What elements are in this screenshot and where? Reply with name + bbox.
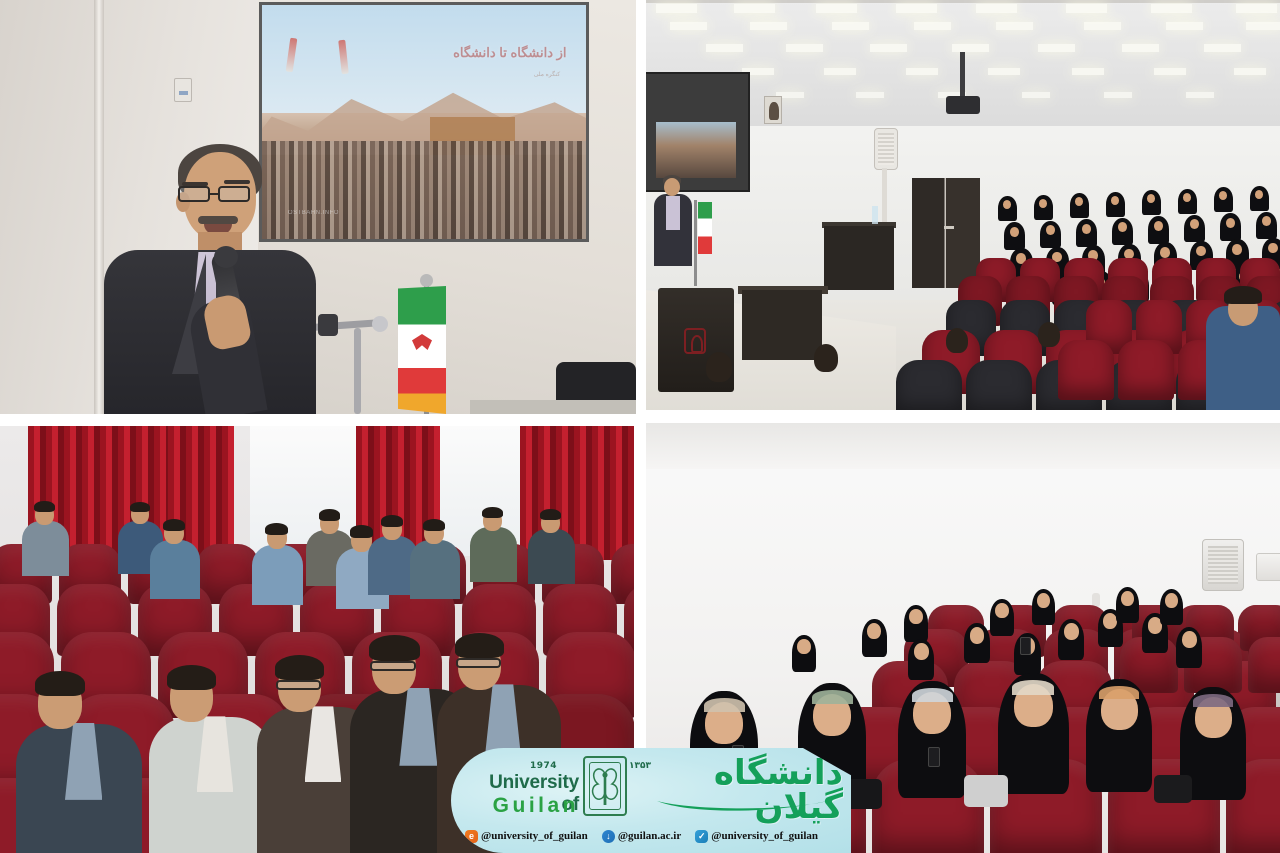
speaker-brow-right (224, 180, 250, 184)
ceiling-edge (646, 0, 1280, 3)
audience-body (150, 540, 200, 598)
iranian-flag (698, 202, 712, 254)
audience-face (1064, 623, 1079, 640)
hall-ceiling (646, 423, 1280, 469)
handbag-icon (1154, 775, 1192, 803)
audience-hair (130, 502, 150, 513)
audience-face (1262, 216, 1271, 226)
speaker-moustache (198, 216, 238, 224)
ceiling-light (786, 44, 823, 52)
wall-speaker-icon (874, 128, 898, 170)
ceiling-light (734, 4, 775, 13)
slide-subtitle: کنگره ملی (534, 71, 560, 78)
wall-portrait (764, 96, 782, 124)
audience-hair (1224, 286, 1262, 304)
headscarf (1099, 686, 1139, 700)
audience-body (22, 521, 69, 576)
audience-face (1268, 243, 1278, 254)
ceiling-light (670, 22, 707, 30)
audience-face (914, 643, 929, 660)
audience-face (867, 623, 881, 639)
eitaa-icon: e (465, 830, 478, 843)
ceiling-light (816, 4, 857, 13)
headscarf (912, 688, 953, 702)
ceiling-light (1072, 68, 1104, 75)
flag-pole-finial (420, 274, 433, 287)
iranian-flag (398, 286, 446, 414)
university-name-line2: Guilan (467, 794, 579, 818)
wall-conduit (882, 168, 887, 224)
audience-face (970, 627, 984, 644)
table-edge (470, 400, 636, 414)
audience-hair (455, 633, 504, 658)
audience-face (1121, 591, 1134, 606)
guilan-tea-leaf-emblem-icon (583, 756, 627, 816)
smartphone-icon (928, 747, 940, 767)
ceiling-light (824, 68, 856, 75)
ceiling-light (656, 4, 697, 13)
audience-hair (167, 665, 216, 690)
ceiling-light (952, 44, 989, 52)
ceiling-light (976, 4, 1017, 13)
audience-hair (163, 519, 185, 531)
ceiling-light (1038, 44, 1075, 52)
audience-face (1226, 218, 1235, 228)
audience-face (1082, 224, 1091, 234)
ceiling-light (906, 68, 938, 75)
social-handle-eitaa: @university_of_guilan (481, 830, 588, 842)
social-handles-row: e @university_of_guilan ↓ @guilan.ac.ir … (465, 826, 837, 846)
ceiling-light (856, 92, 884, 98)
ceiling-light (750, 22, 787, 30)
auditorium-wide-photo (646, 0, 1280, 410)
equipment-cabinet (824, 226, 894, 290)
audience-head (814, 344, 838, 372)
microphone-head (214, 246, 238, 268)
headscarf (1193, 694, 1233, 708)
audience-hair (34, 501, 55, 512)
projector-icon (946, 96, 980, 114)
ceiling-light (1204, 44, 1241, 52)
auditorium-seat (1058, 340, 1114, 400)
audience-face (909, 609, 922, 625)
bale-icon: ↓ (602, 830, 615, 843)
auditorium-seat (966, 360, 1032, 410)
ceiling-light (1236, 4, 1277, 13)
headscarf (704, 698, 745, 712)
university-name-persian-block: دانشگاه گیلان (649, 754, 845, 822)
audience-hair (350, 525, 374, 537)
ceiling-light (832, 22, 869, 30)
audience-face (1118, 222, 1127, 232)
ceiling-light (1154, 68, 1186, 75)
audience-hair (381, 515, 403, 527)
audience-body (252, 545, 303, 605)
social-link-eitaa[interactable]: e @university_of_guilan (465, 830, 588, 843)
ceiling-light (996, 22, 1033, 30)
social-handle-twitter: @university_of_guilan (711, 830, 818, 842)
auditorium-seat (896, 360, 962, 410)
audience-face (1182, 631, 1197, 648)
social-link-twitter[interactable]: ✓ @university_of_guilan (695, 830, 818, 843)
social-link-bale[interactable]: ↓ @guilan.ac.ir (602, 830, 681, 843)
audience-body (528, 529, 575, 584)
water-bottle (872, 206, 878, 224)
light-switch-icon (174, 78, 192, 102)
auditorium-seat (1248, 637, 1280, 693)
social-handle-bale: @guilan.ac.ir (618, 830, 681, 842)
audience-face (995, 603, 1008, 619)
ceiling-light (914, 22, 951, 30)
audience-head (706, 352, 732, 382)
handbag-icon (964, 775, 1008, 807)
emblem-glyph (589, 764, 621, 808)
speaker-shirt (666, 196, 680, 230)
projection-screen: از دانشگاه تا دانشگاه کنگره ملی OSTBAHN.… (262, 5, 586, 239)
collage-page: از دانشگاه تا دانشگاه کنگره ملی OSTBAHN.… (0, 0, 1280, 853)
audience-face (1154, 221, 1163, 231)
ceiling-light (1122, 44, 1159, 52)
founding-year-gregorian: 1974 (530, 761, 557, 771)
smartphone-icon (1020, 637, 1031, 655)
audience-face (1010, 227, 1019, 237)
auditorium-seat (1118, 340, 1174, 400)
ceiling-light (1084, 22, 1121, 30)
audience-hair (482, 507, 503, 518)
audience-face (1196, 246, 1206, 257)
eyeglasses-icon (370, 661, 416, 671)
ceiling-light (988, 68, 1020, 75)
audience-hair (275, 655, 324, 680)
twitter-verified-icon: ✓ (695, 830, 708, 843)
audience-face (797, 639, 810, 655)
audience-face (1165, 593, 1178, 608)
audience-hair (319, 509, 341, 520)
ceiling-light (1186, 92, 1214, 98)
ceiling-light (1066, 4, 1107, 13)
ceiling-light (1246, 22, 1280, 30)
projection-screen (646, 72, 750, 192)
audience-body (410, 540, 460, 598)
eyeglasses-icon (456, 658, 501, 668)
audience-head (1038, 322, 1060, 347)
speaker-head (664, 178, 680, 196)
calligraphy-swoosh-icon (655, 798, 833, 814)
founding-year-persian: ۱۳۵۳ (629, 761, 651, 771)
wall-speaker-icon (1202, 539, 1244, 591)
wall-pillar (94, 0, 104, 414)
eyeglasses-icon (276, 680, 321, 690)
audience-face (1160, 247, 1170, 258)
audience-head (946, 328, 968, 353)
slide-watermark: OSTBAHN.INFO (288, 210, 339, 216)
audience-hair (265, 523, 288, 535)
slide-title: از دانشگاه تا دانشگاه (453, 45, 566, 61)
stage-desk (742, 290, 822, 360)
audience-face (1046, 225, 1055, 235)
audience-face (1037, 593, 1050, 608)
ceiling-light (1166, 22, 1203, 30)
audience-hair (423, 519, 445, 531)
university-of-guilan-logo-banner: 1974 ۱۳۵۳ University of Guilan دانشگاه گ… (451, 748, 851, 853)
double-door (912, 178, 980, 288)
photo-grid: از دانشگاه تا دانشگاه کنگره ملی OSTBAHN.… (0, 0, 1280, 853)
headscarf (812, 690, 853, 704)
audience-hair (369, 635, 419, 661)
air-conditioner-icon (1256, 553, 1280, 581)
headscarf (1012, 680, 1054, 695)
flag-pole (694, 200, 697, 286)
audience-face (1232, 244, 1242, 255)
projector-mount (960, 52, 965, 98)
ceiling-light (896, 4, 937, 13)
slide-crowd (262, 141, 586, 239)
ceiling-light (1234, 68, 1266, 75)
ceiling-light (1104, 92, 1132, 98)
eyeglasses-icon (178, 186, 256, 203)
ceiling-light (706, 44, 743, 52)
ceiling-light (870, 44, 907, 52)
audience-face (1190, 219, 1199, 229)
ceiling-light (1151, 4, 1192, 13)
audience-hair (35, 671, 85, 697)
audience-body (470, 527, 517, 582)
ceiling-light (1022, 92, 1050, 98)
audience-hair (540, 509, 561, 520)
speaker-at-podium-photo: از دانشگاه تا دانشگاه کنگره ملی OSTBAHN.… (0, 0, 636, 414)
